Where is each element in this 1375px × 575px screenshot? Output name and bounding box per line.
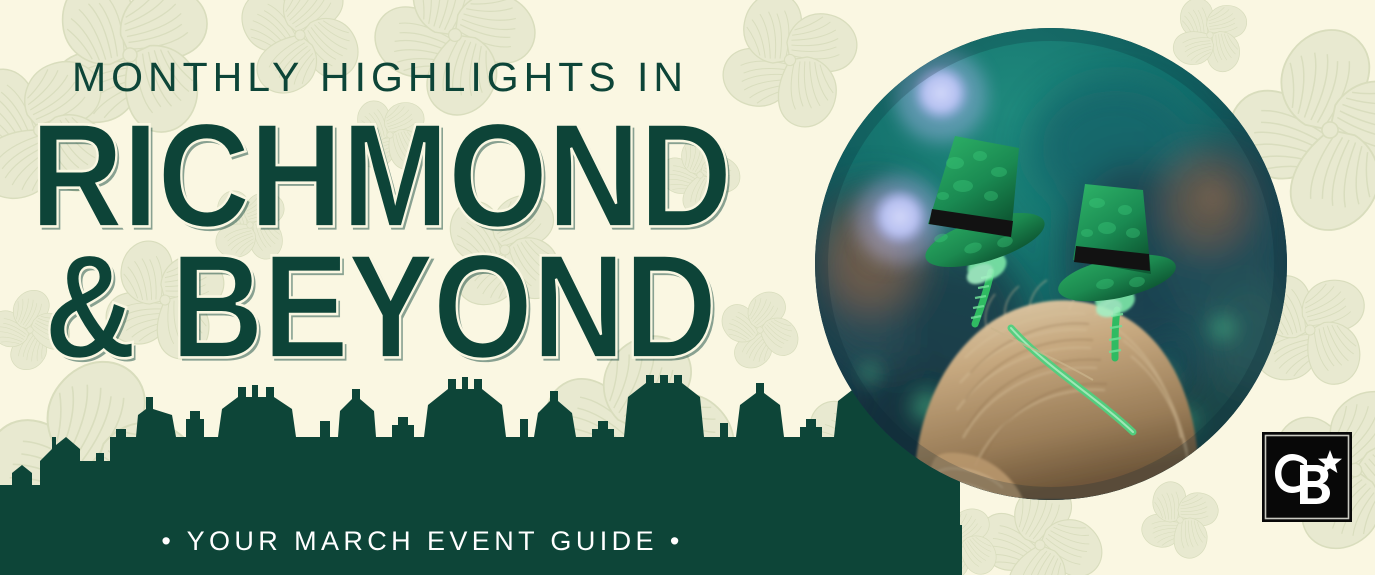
footer-green-bar-step <box>930 525 962 575</box>
page-title-line-2-inline: & BEYOND <box>30 243 729 369</box>
event-guide-caption: • YOUR MARCH EVENT GUIDE • <box>0 526 845 557</box>
page-title-line-1-inline: RICHMOND <box>30 112 729 238</box>
coldwell-banker-cb-logo[interactable] <box>1262 432 1352 522</box>
page-title-line-1: RICHMOND RICHMOND <box>30 112 729 238</box>
monthly-highlights-banner: MONTHLY HIGHLIGHTS IN RICHMOND RICHMOND … <box>0 0 1375 575</box>
page-title-line-1-fill: RICHMOND <box>30 92 731 258</box>
page-title-line-2-fill: & BEYOND <box>44 223 716 389</box>
eyebrow-text: MONTHLY HIGHLIGHTS IN <box>0 57 760 98</box>
st-patricks-day-leprechaun-hat-headband-photo <box>815 28 1287 500</box>
page-title-line-2: & BEYOND & BEYOND <box>30 243 729 369</box>
